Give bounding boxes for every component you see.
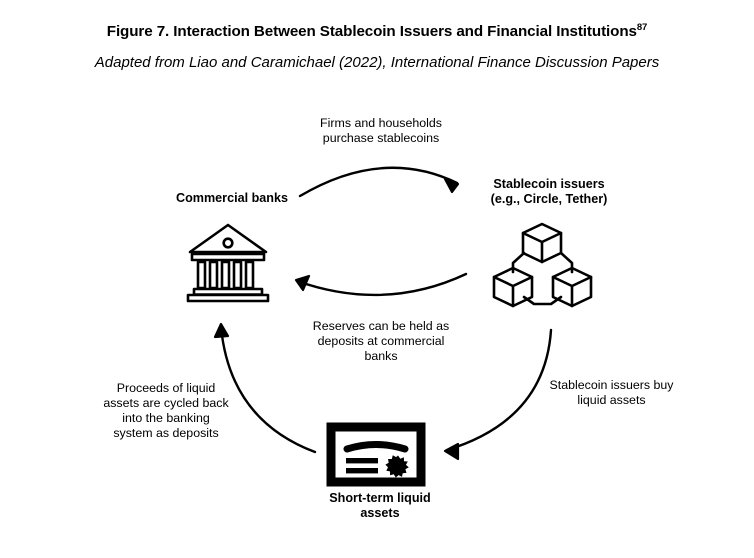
- node-label-commercial-banks: Commercial banks: [132, 191, 332, 206]
- edge-label-issuers-buy-liquid: Stablecoin issuers buy liquid assets: [524, 378, 699, 408]
- bank-icon: [188, 225, 268, 301]
- edge-label-proceeds-cycled: Proceeds of liquid assets are cycled bac…: [81, 381, 251, 442]
- edge-label-firms-purchase: Firms and households purchase stablecoin…: [281, 116, 481, 146]
- arrow-reserves-deposits: [296, 274, 466, 295]
- certificate-icon: [331, 427, 421, 482]
- figure-container: Figure 7. Interaction Between Stablecoin…: [0, 0, 754, 558]
- edge-label-reserves-deposits: Reserves can be held as deposits at comm…: [280, 319, 482, 364]
- diagram-canvas: [0, 0, 754, 558]
- node-label-stablecoin-issuers: Stablecoin issuers (e.g., Circle, Tether…: [444, 177, 654, 208]
- node-label-short-term-liquid-assets: Short-term liquid assets: [278, 491, 482, 522]
- blockchain-cubes-icon: [494, 224, 591, 306]
